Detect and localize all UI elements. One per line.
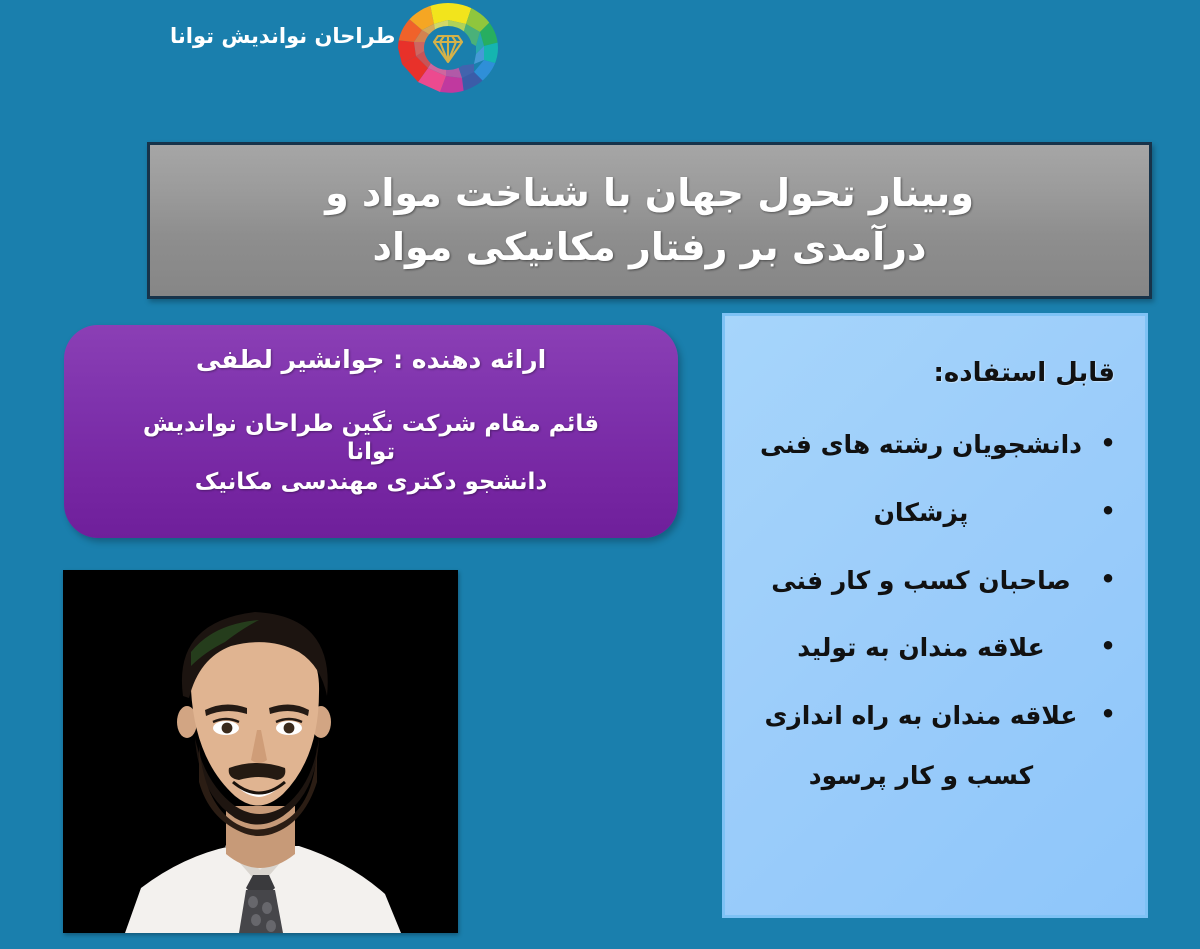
- presenter-role-text-1: قائم مقام شرکت نگین طراحان نواندیش: [143, 411, 599, 437]
- audience-item-label: پزشکان: [743, 496, 1095, 530]
- presenter-role-line-1: قائم مقام شرکت نگین طراحان نواندیش توانا: [90, 410, 652, 466]
- audience-item-label: دانشجویان رشته های فنی: [743, 428, 1095, 462]
- audience-item-label: علاقه مندان به تولید: [743, 631, 1095, 665]
- list-item: • علاقه مندان به راه اندازی کسب و کار پر…: [743, 699, 1121, 793]
- diamond-gem-icon: [396, 2, 500, 94]
- company-logo: [396, 2, 500, 94]
- bullet-icon: •: [1095, 428, 1121, 458]
- audience-panel: قابل استفاده: • دانشجویان رشته های فنی •…: [722, 313, 1148, 918]
- list-item: • پزشکان: [743, 496, 1121, 530]
- portrait-illustration: [63, 570, 458, 933]
- presenter-role-line-3: دانشجو دکتری مهندسی مکانیک: [90, 468, 652, 496]
- poster-canvas: نگین طراحان نواندیش توانا: [0, 0, 1200, 949]
- audience-item-label: علاقه مندان به راه اندازی کسب و کار پرسو…: [743, 699, 1095, 793]
- audience-heading: قابل استفاده:: [743, 358, 1121, 388]
- title-line-2: درآمدی بر رفتار مکانیکی مواد: [372, 221, 926, 275]
- list-item: • صاحبان کسب و کار فنی: [743, 564, 1121, 598]
- presenter-card: ارائه دهنده : جوانشیر لطفی قائم مقام شرک…: [64, 325, 678, 538]
- bullet-icon: •: [1095, 564, 1121, 594]
- audience-item-label-line2: کسب و کار پرسود: [747, 759, 1095, 793]
- list-item: • دانشجویان رشته های فنی: [743, 428, 1121, 462]
- presenter-photo: [63, 570, 458, 933]
- presenter-role-text-2: توانا: [347, 439, 395, 465]
- list-item: • علاقه مندان به تولید: [743, 631, 1121, 665]
- title-line-1: وبینار تحول جهان با شناخت مواد و: [325, 167, 974, 221]
- audience-item-label: صاحبان کسب و کار فنی: [743, 564, 1095, 598]
- brand-header: نگین طراحان نواندیش توانا: [0, 0, 1200, 100]
- bullet-icon: •: [1095, 496, 1121, 526]
- audience-item-label-line1: علاقه مندان به راه اندازی: [765, 701, 1078, 730]
- audience-list: • دانشجویان رشته های فنی • پزشکان • صاحب…: [743, 428, 1121, 793]
- presenter-name: ارائه دهنده : جوانشیر لطفی: [90, 345, 652, 374]
- bullet-icon: •: [1095, 631, 1121, 661]
- poster-title-box: وبینار تحول جهان با شناخت مواد و درآمدی …: [147, 142, 1152, 299]
- bullet-icon: •: [1095, 699, 1121, 729]
